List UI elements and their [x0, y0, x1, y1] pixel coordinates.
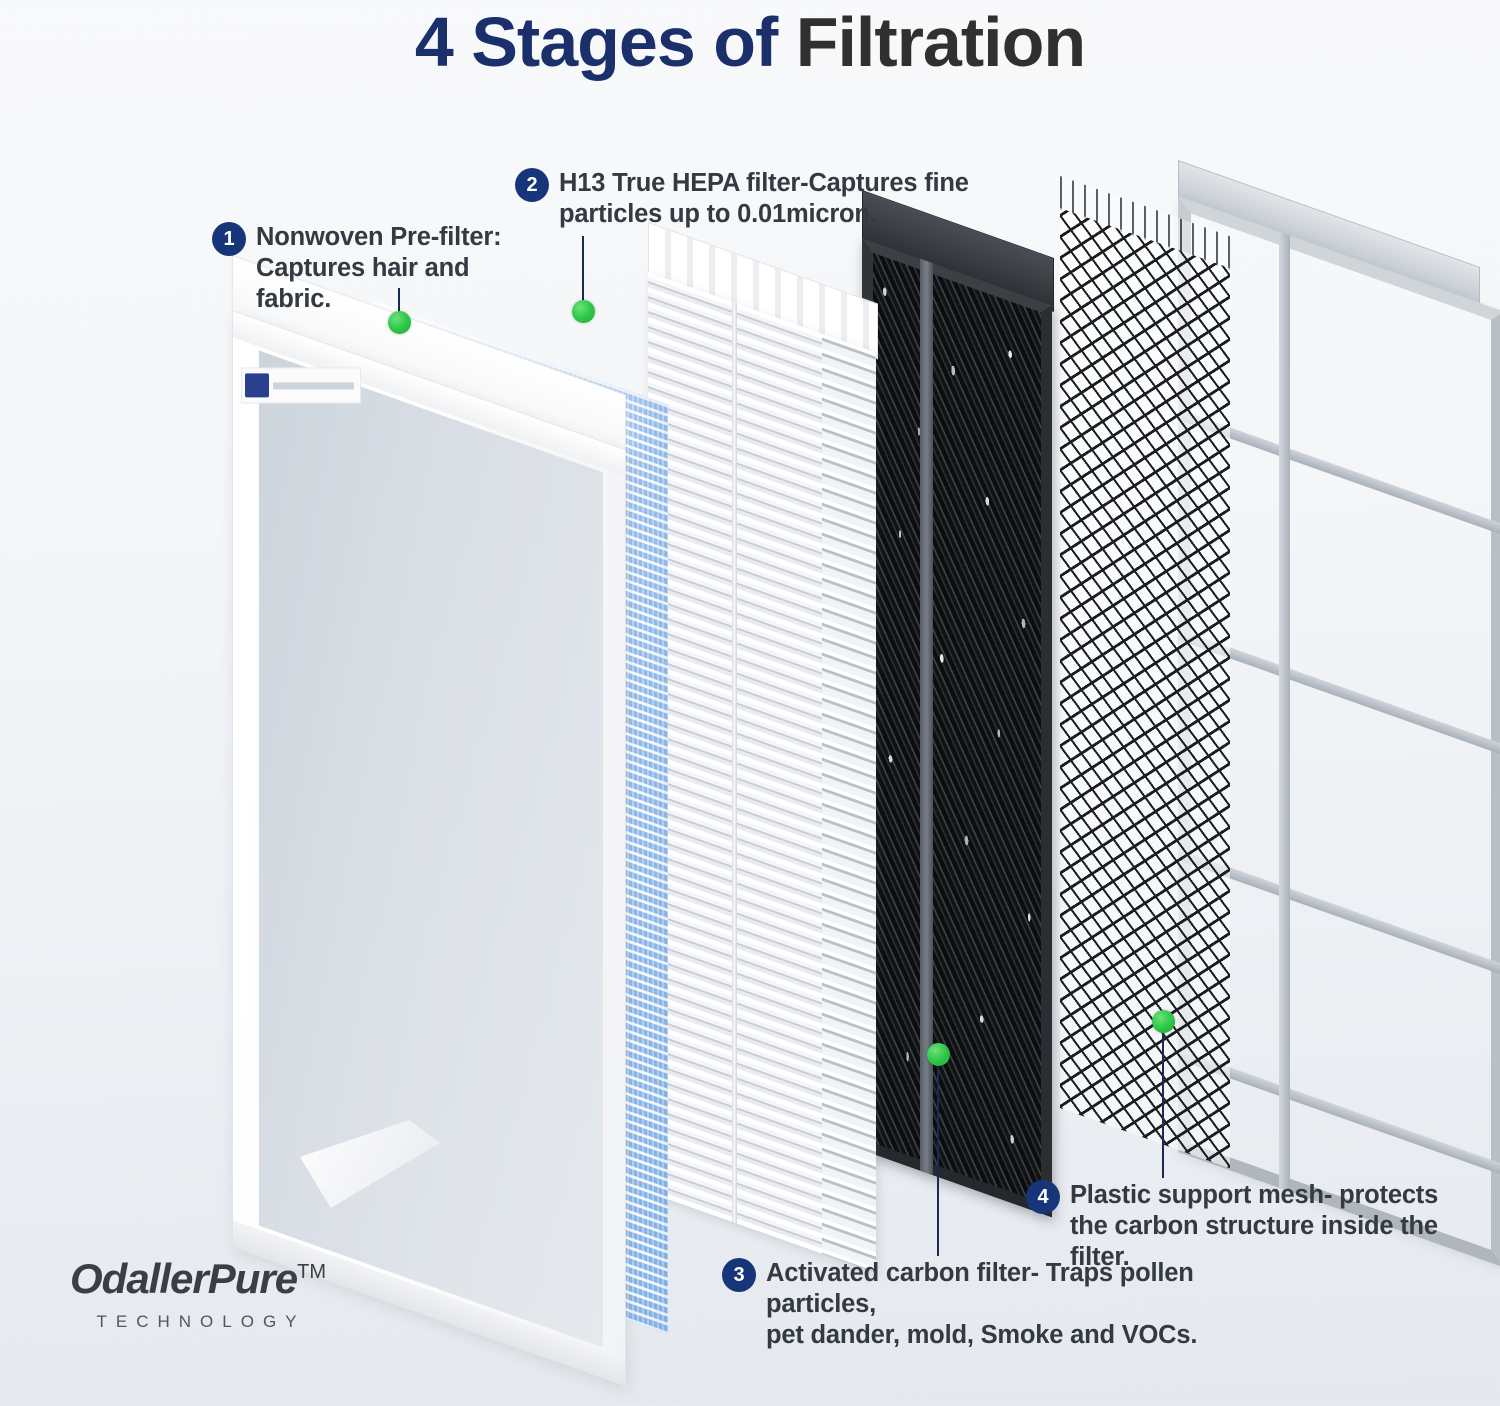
support-vertical-bar: [1279, 232, 1290, 1192]
callout-2-badge: 2: [515, 168, 549, 202]
callout-4-badge: 4: [1026, 1180, 1060, 1214]
callout-3-badge: 3: [722, 1258, 756, 1292]
sticker-logo-icon: [245, 373, 269, 397]
callout-3-anchor-dot: [927, 1043, 950, 1066]
callout-3-leader-line: [937, 1060, 939, 1256]
frame-inner-panel: [259, 351, 603, 1348]
brand-subtitle: TECHNOLOGY: [70, 1312, 326, 1332]
plastic-support-mesh-layer: [1060, 208, 1230, 1168]
activated-carbon-layer: [862, 238, 1052, 1217]
brand-trademark: TM: [297, 1261, 326, 1283]
callout-4-anchor-dot: [1152, 1010, 1175, 1033]
callout-2-label: H13 True HEPA filter-Captures fine parti…: [559, 168, 969, 230]
callout-1: 1 Nonwoven Pre-filter: Captures hair and…: [212, 222, 542, 315]
carbon-layer-frame: [862, 238, 1052, 1217]
callout-4: 4 Plastic support mesh- protects the car…: [1026, 1180, 1476, 1273]
carbon-layer-support-bar: [920, 259, 933, 1176]
pleat-support-strip: [732, 302, 737, 1224]
callout-1-badge: 1: [212, 222, 246, 256]
callout-2-leader-line: [582, 236, 584, 308]
brand-name: OdallerPureTM: [70, 1258, 326, 1300]
callout-4-leader-line: [1162, 1030, 1164, 1178]
white-outer-frame: [232, 310, 626, 1387]
brand-sticker: [241, 367, 361, 403]
callout-1-anchor-dot: [388, 311, 411, 334]
callout-4-label: Plastic support mesh- protects the carbo…: [1070, 1180, 1476, 1273]
pleat-edge-profile: [822, 334, 876, 1273]
page-title: 4 Stages of Filtration: [0, 2, 1500, 82]
hepa-pleat-layer: [648, 272, 876, 1273]
brand-logo: OdallerPureTM TECHNOLOGY: [70, 1258, 326, 1332]
brand-name-text: OdallerPure: [70, 1255, 297, 1302]
callout-2: 2 H13 True HEPA filter-Captures fine par…: [515, 168, 985, 230]
title-part-blue: 4 Stages of: [415, 3, 777, 81]
sticker-text-line: [273, 382, 354, 389]
callout-2-anchor-dot: [572, 300, 595, 323]
title-part-dark: Filtration: [777, 3, 1085, 81]
infographic-canvas: 4 Stages of Filtration: [0, 0, 1500, 1406]
